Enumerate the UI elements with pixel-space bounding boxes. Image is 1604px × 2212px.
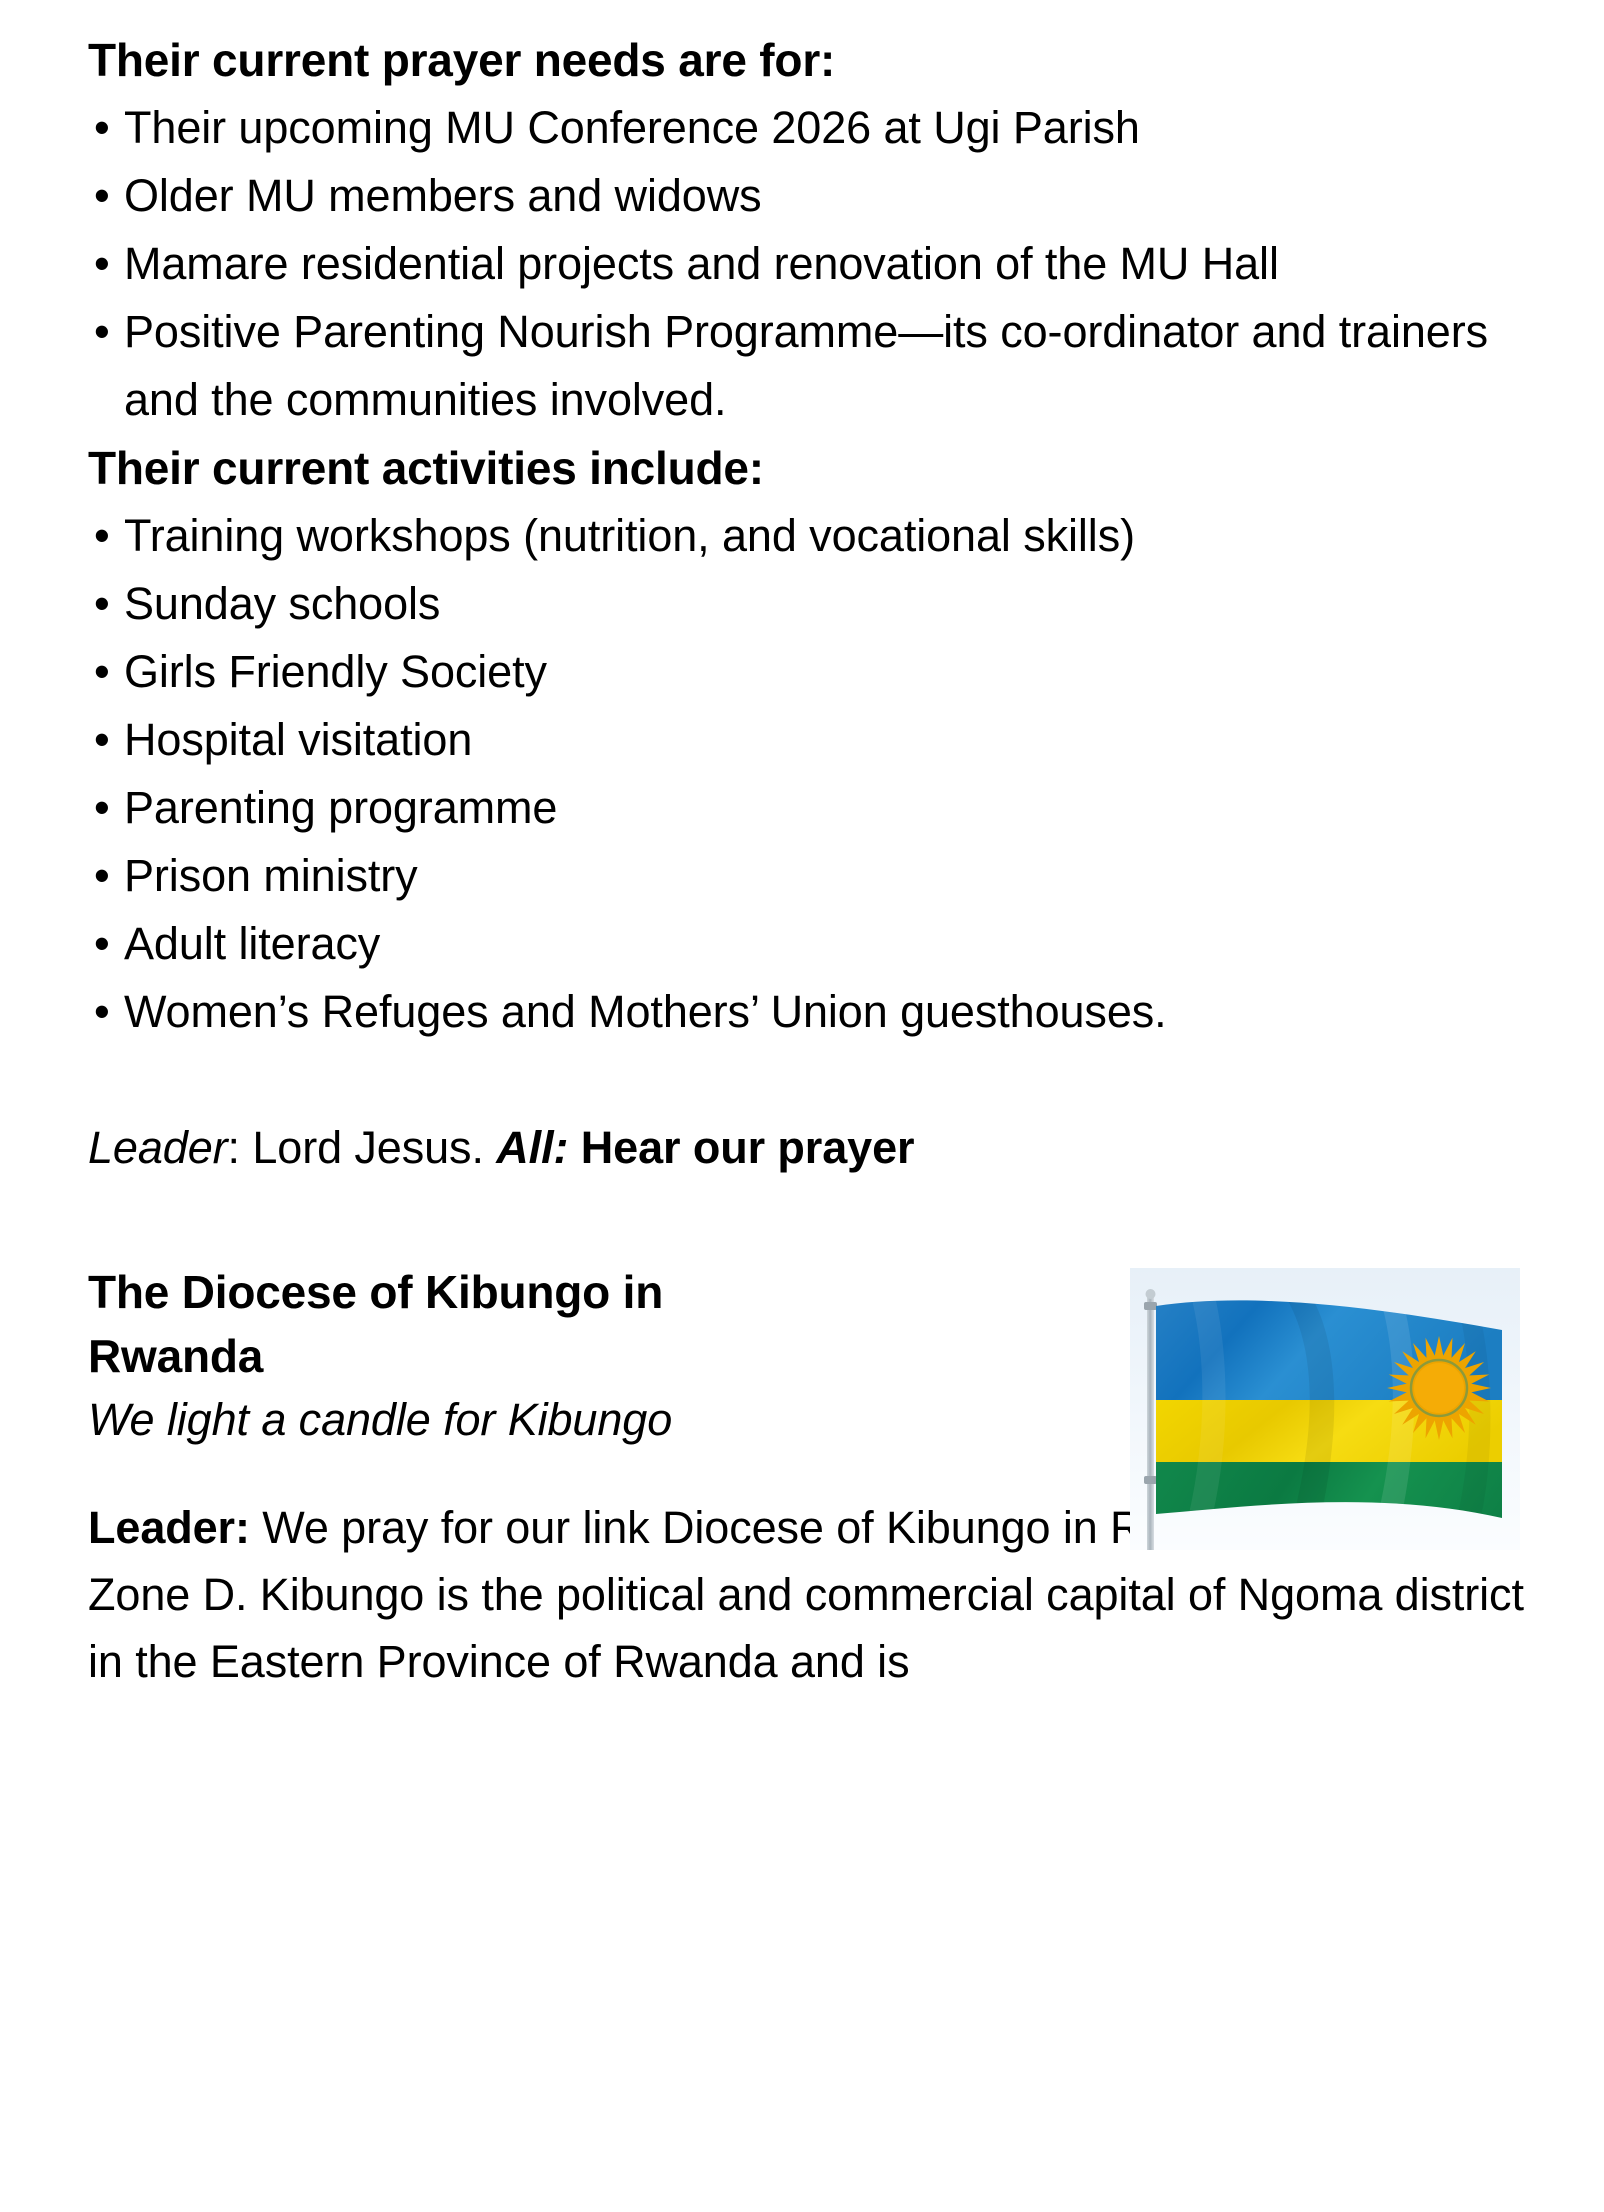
diocese-title: The Diocese of Kibungo in Rwanda — [88, 1260, 808, 1388]
bullet-icon: • — [94, 570, 110, 638]
prayer-needs-list: • Their upcoming MU Conference 2026 at U… — [88, 94, 1558, 434]
list-item-text: Training workshops (nutrition, and vocat… — [124, 510, 1135, 561]
list-item-text: Hospital visitation — [124, 714, 472, 765]
activities-list: • Training workshops (nutrition, and voc… — [88, 502, 1558, 1046]
list-item: • Prison ministry — [88, 842, 1558, 910]
leader-text: : Lord Jesus. — [228, 1122, 497, 1173]
list-item-text: Adult literacy — [124, 918, 380, 969]
bullet-icon: • — [94, 502, 110, 570]
bullet-icon: • — [94, 162, 110, 230]
bullet-icon: • — [94, 230, 110, 298]
list-item-text: Mamare residential projects and renovati… — [124, 238, 1279, 289]
bullet-icon: • — [94, 774, 110, 842]
all-response-text: Hear our prayer — [568, 1122, 914, 1173]
blank-line-spacer-2 — [88, 1182, 1558, 1250]
all-label: All: — [496, 1122, 568, 1173]
bullet-icon: • — [94, 298, 110, 366]
prayer-needs-heading: Their current prayer needs are for: — [88, 26, 1558, 94]
list-item: • Training workshops (nutrition, and voc… — [88, 502, 1558, 570]
list-item: • Women’s Refuges and Mothers’ Union gue… — [88, 978, 1558, 1046]
diocese-subtitle: We light a candle for Kibungo — [88, 1388, 848, 1452]
sun-emblem — [1387, 1336, 1491, 1440]
list-item-text: Positive Parenting Nourish Programme—its… — [124, 306, 1488, 425]
list-item-text: Sunday schools — [124, 578, 440, 629]
paragraph-leader-label: Leader: — [88, 1502, 250, 1553]
bullet-icon: • — [94, 910, 110, 978]
activities-heading: Their current activities include: — [88, 434, 1558, 502]
bullet-icon: • — [94, 638, 110, 706]
blank-line-spacer — [88, 1046, 1558, 1114]
list-item: • Hospital visitation — [88, 706, 1558, 774]
bullet-icon: • — [94, 978, 110, 1046]
bullet-icon: • — [94, 842, 110, 910]
rwanda-flag-image — [1130, 1268, 1520, 1550]
leader-all-response: Leader: Lord Jesus. All: Hear our prayer — [88, 1114, 1558, 1182]
list-item: • Sunday schools — [88, 570, 1558, 638]
document-page: Their current prayer needs are for: • Th… — [0, 0, 1604, 2212]
bullet-icon: • — [94, 94, 110, 162]
bullet-icon: • — [94, 706, 110, 774]
list-item-text: Prison ministry — [124, 850, 418, 901]
list-item: • Mamare residential projects and renova… — [88, 230, 1558, 298]
list-item-text: Women’s Refuges and Mothers’ Union guest… — [124, 986, 1167, 1037]
list-item-text: Older MU members and widows — [124, 170, 762, 221]
list-item-text: Girls Friendly Society — [124, 646, 547, 697]
list-item-text: Their upcoming MU Conference 2026 at Ugi… — [124, 102, 1140, 153]
list-item: • Positive Parenting Nourish Programme—i… — [88, 298, 1558, 434]
list-item-text: Parenting programme — [124, 782, 557, 833]
list-item: • Their upcoming MU Conference 2026 at U… — [88, 94, 1558, 162]
leader-label: Leader — [88, 1122, 228, 1173]
list-item: • Older MU members and widows — [88, 162, 1558, 230]
page-content: Their current prayer needs are for: • Th… — [88, 26, 1558, 1695]
diocese-section: The Diocese of Kibungo in Rwanda We ligh… — [88, 1260, 1558, 1695]
list-item: • Parenting programme — [88, 774, 1558, 842]
list-item: • Girls Friendly Society — [88, 638, 1558, 706]
list-item: • Adult literacy — [88, 910, 1558, 978]
